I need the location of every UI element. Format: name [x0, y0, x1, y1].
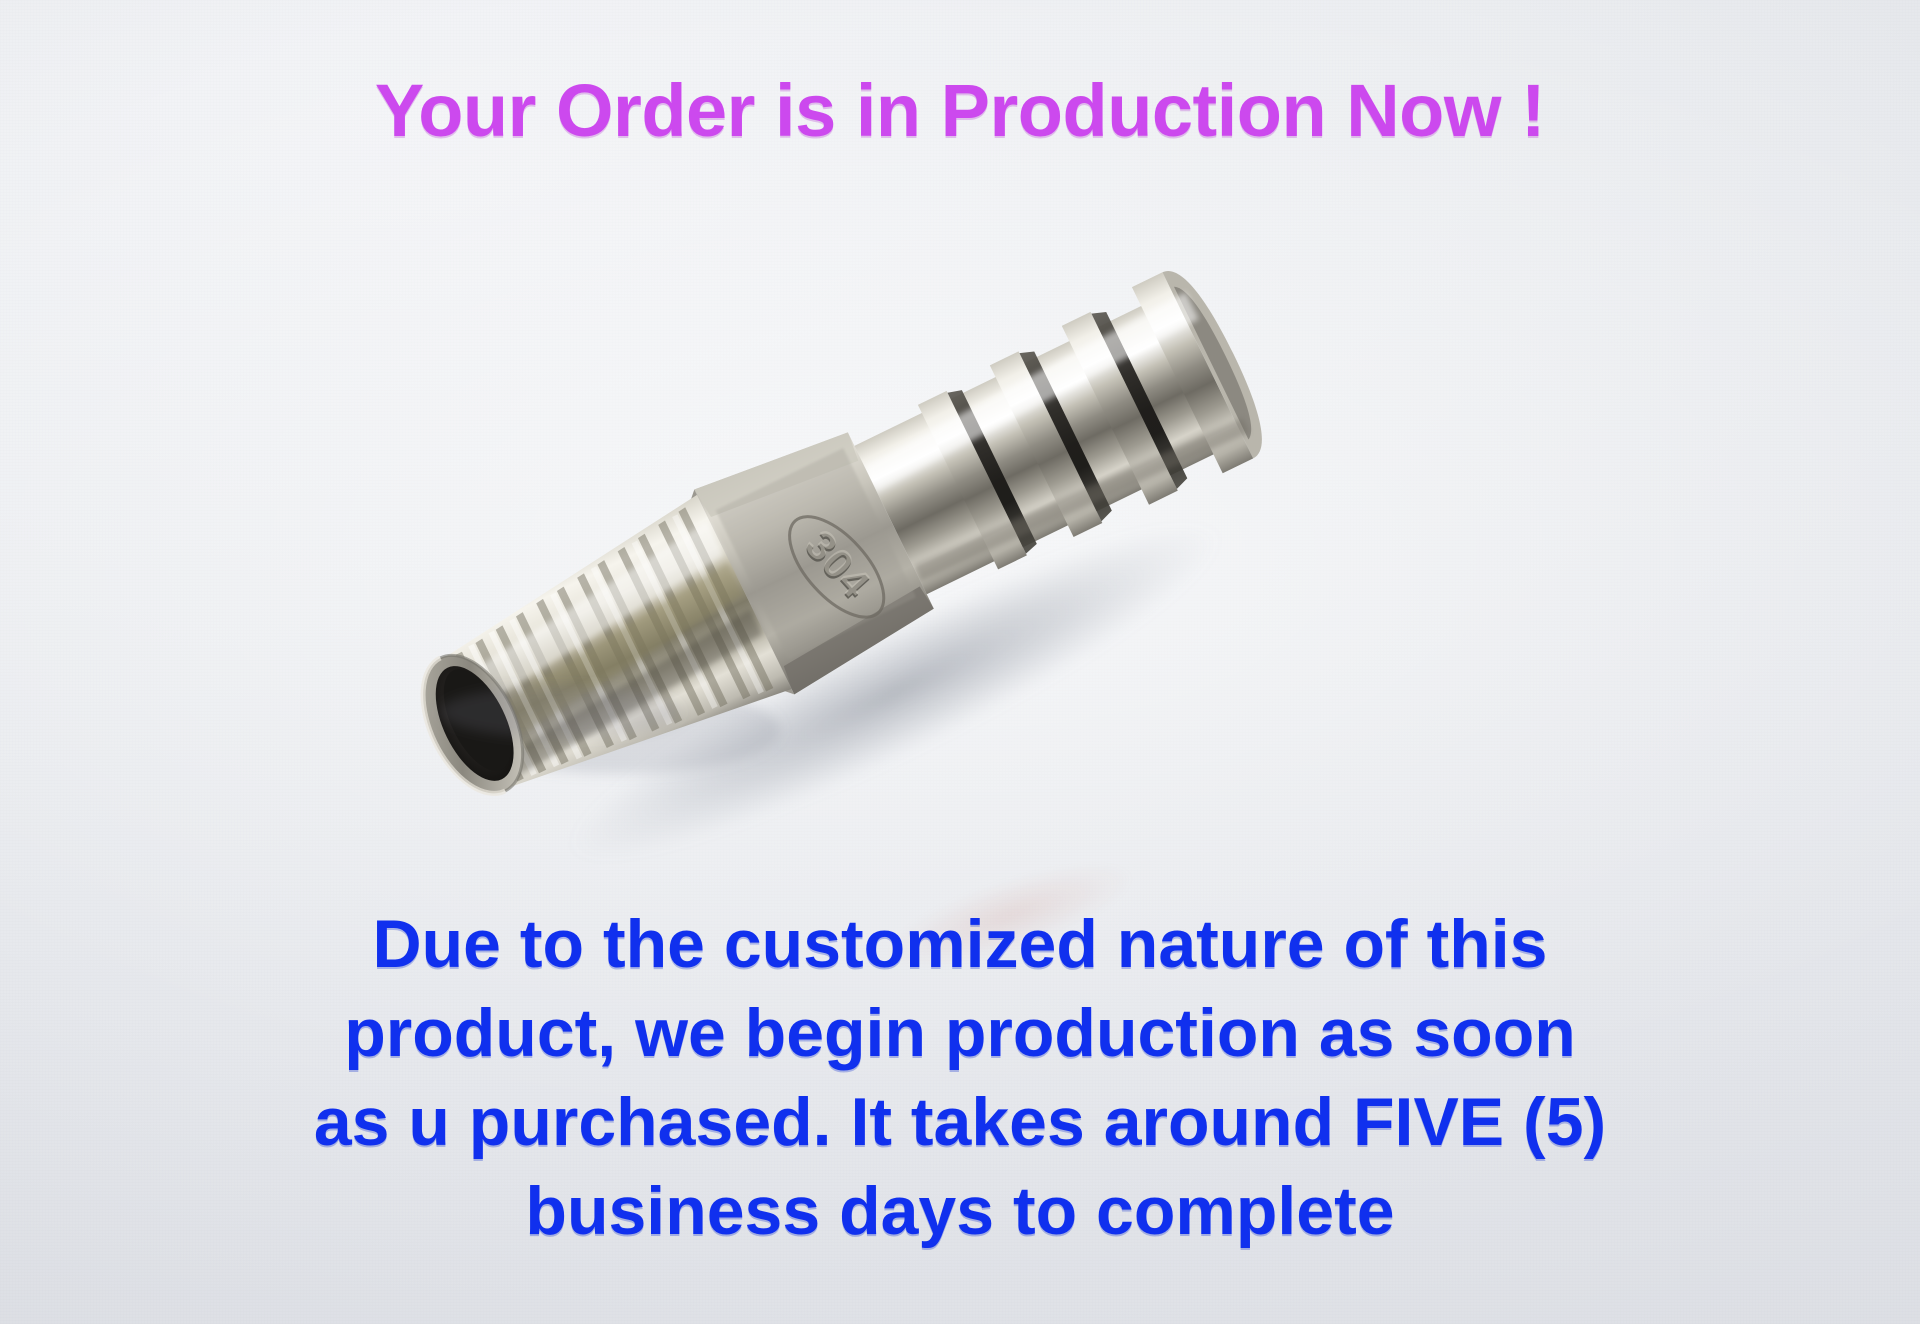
notice-line-1: Due to the customized nature of this	[90, 900, 1830, 989]
production-notice: Due to the customized nature of this pro…	[90, 900, 1830, 1256]
promo-banner: 304 304	[0, 0, 1920, 1324]
page-title: Your Order is in Production Now !	[0, 72, 1920, 150]
notice-line-4: business days to complete	[90, 1167, 1830, 1256]
notice-line-2: product, we begin production as soon	[90, 989, 1830, 1078]
notice-line-3: as u purchased. It takes around FIVE (5)	[90, 1078, 1830, 1167]
